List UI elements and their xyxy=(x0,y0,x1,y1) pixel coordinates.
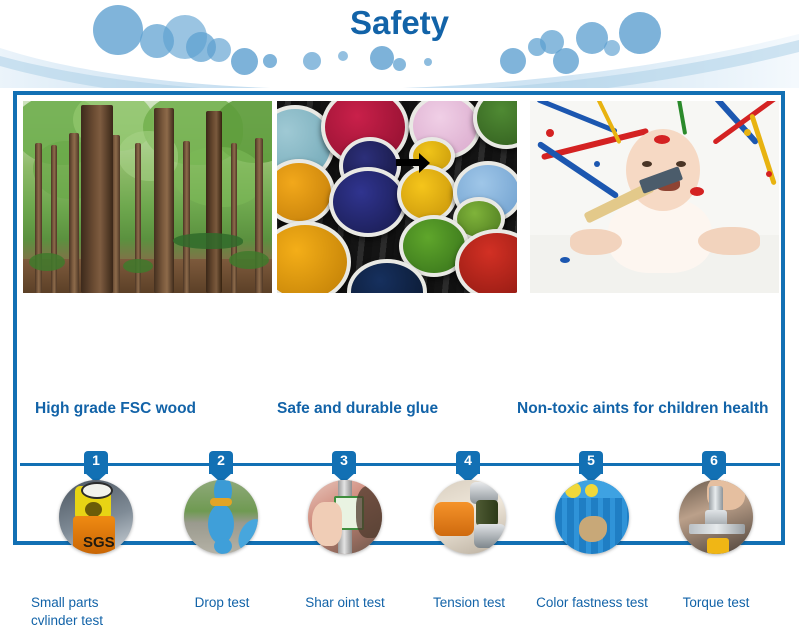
section-divider xyxy=(20,463,780,466)
test-number-label: 3 xyxy=(332,452,356,468)
page-title: Safety xyxy=(0,4,799,42)
decorative-bubble xyxy=(303,52,321,70)
feature-caption: Safe and durable glue xyxy=(277,397,438,420)
test-caption: Shar oint test xyxy=(289,594,401,612)
test-caption: Color fastness test xyxy=(535,594,649,612)
forest-photo xyxy=(23,101,272,293)
baby-painting-photo xyxy=(530,101,779,293)
sharp-point-test-thumb xyxy=(308,480,382,554)
test-number-label: 4 xyxy=(456,452,480,468)
test-number-label: 1 xyxy=(84,452,108,468)
feature-caption: High grade FSC wood xyxy=(35,397,196,420)
drop-test-thumb xyxy=(184,480,258,554)
feature-photo-row xyxy=(20,98,782,296)
test-number-pin: 1 xyxy=(84,451,108,474)
test-number-label: 2 xyxy=(209,452,233,468)
mouse-cursor-arrow xyxy=(395,153,431,179)
decorative-bubble xyxy=(393,58,406,71)
page-header: Safety xyxy=(0,0,799,88)
safety-panel: High grade FSC wood Safe and durable glu… xyxy=(13,91,785,545)
feature-caption: Non-toxic aints for children health xyxy=(517,397,769,420)
decorative-bubble xyxy=(263,54,277,68)
test-number-pin: 4 xyxy=(456,451,480,474)
decorative-bubble xyxy=(553,48,579,74)
torque-test-thumb xyxy=(679,480,753,554)
test-caption: Small parts cvlinder test xyxy=(31,594,137,630)
color-fastness-thumb xyxy=(555,480,629,554)
test-number-pin: 3 xyxy=(332,451,356,474)
paint-cans-photo xyxy=(277,101,517,293)
tension-test-thumb xyxy=(432,480,506,554)
test-number-label: 6 xyxy=(702,452,726,468)
decorative-bubble xyxy=(338,51,348,61)
decorative-bubble xyxy=(604,40,620,56)
decorative-bubble xyxy=(424,58,432,66)
test-caption: Torque test xyxy=(660,594,772,612)
test-number-label: 5 xyxy=(579,452,603,468)
small-parts-cylinder-thumb: SGS xyxy=(59,480,133,554)
test-caption: Drop test xyxy=(167,594,277,612)
test-number-pin: 5 xyxy=(579,451,603,474)
decorative-bubble xyxy=(370,46,394,70)
decorative-bubble xyxy=(231,48,258,75)
decorative-bubble xyxy=(500,48,526,74)
test-number-pin: 6 xyxy=(702,451,726,474)
test-number-pin: 2 xyxy=(209,451,233,474)
test-caption: Tension test xyxy=(413,594,525,612)
